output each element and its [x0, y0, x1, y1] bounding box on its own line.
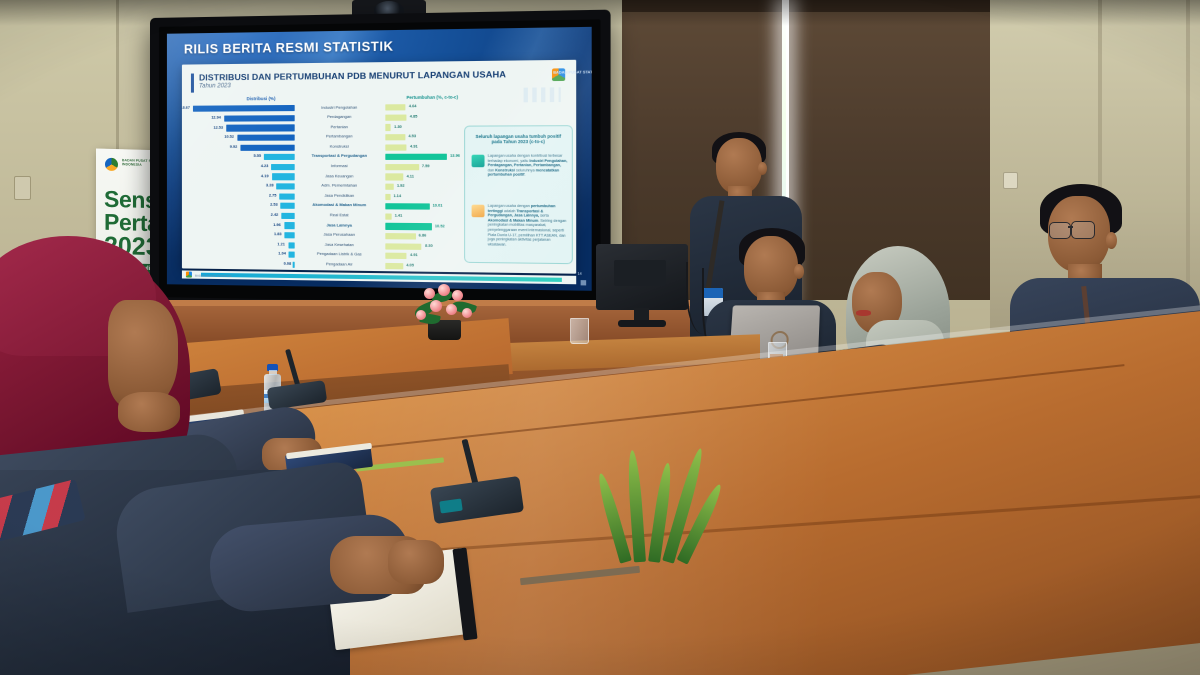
- distribusi-bar: [288, 242, 295, 248]
- slide-header-title: RILIS BERITA RESMI STATISTIK: [184, 39, 394, 56]
- pertumbuhan-cell: 1.30: [385, 123, 470, 133]
- distribusi-column-header: Distribusi (%): [247, 96, 276, 101]
- chart-category-label: Jasa Pendidikan: [296, 193, 384, 198]
- chart-category-label: Perdagangan: [296, 115, 384, 120]
- pertumbuhan-cell: 4.85: [385, 113, 470, 123]
- pertumbuhan-bar: [385, 104, 405, 111]
- distribusi-cell: 5.55: [190, 153, 295, 163]
- distribusi-bar: [281, 203, 295, 209]
- distribusi-value: 1.04: [278, 252, 286, 256]
- glasses-lens-left-icon: [1049, 222, 1071, 239]
- distribusi-value: 2.53: [270, 203, 278, 207]
- pertumbuhan-cell: 7.59: [385, 163, 470, 173]
- pertumbuhan-value: 6.86: [419, 233, 427, 237]
- distribusi-bar: [271, 164, 294, 170]
- pertumbuhan-bar: [385, 114, 406, 120]
- chart-category-label: Real Estat: [296, 213, 384, 218]
- conference-room-photo: BADAN PUSAT STATISTIK REPUBLIK INDONESIA…: [0, 0, 1200, 675]
- rose: [452, 290, 463, 301]
- distribusi-bar: [272, 174, 295, 180]
- pertumbuhan-value: 4.11: [407, 174, 414, 178]
- pertumbuhan-cell: 10.01: [385, 202, 470, 212]
- chart-title: DISTRIBUSI DAN PERTUMBUHAN PDB MENURUT L…: [199, 69, 506, 83]
- distribusi-cell: 12.94: [190, 114, 295, 124]
- growth-icon: [472, 205, 485, 218]
- pertumbuhan-value: 1.14: [393, 194, 401, 198]
- distribusi-value: 1.83: [274, 232, 282, 236]
- bps-logo-icon-slide: BADAN PUSAT STATISTIK: [552, 68, 565, 81]
- distribusi-bar: [264, 154, 295, 160]
- pertumbuhan-bar: [385, 263, 403, 270]
- slide-watermark: [524, 87, 561, 102]
- chart-category-label: Jasa Perusahaan: [296, 232, 384, 237]
- pertumbuhan-cell: 1.41: [385, 212, 470, 223]
- drinking-glass-2[interactable]: [570, 318, 589, 344]
- distribusi-value: 5.55: [254, 154, 262, 158]
- pertumbuhan-value: 4.64: [409, 105, 417, 109]
- insight-callout-box: Seluruh lapangan usaha tumbuh positif pa…: [464, 125, 573, 264]
- monitor-vesa-bump: [614, 260, 666, 286]
- pertumbuhan-column-header: Pertumbuhan (%, c-to-c): [406, 94, 458, 100]
- rose: [416, 310, 426, 320]
- callout-heading: Seluruh lapangan usaha tumbuh positif pa…: [473, 134, 564, 146]
- distribusi-cell: 4.19: [190, 172, 295, 182]
- distribusi-cell: 2.75: [190, 191, 295, 201]
- distribusi-value: 3.28: [266, 183, 274, 187]
- woman-maroon-cheek: [118, 392, 180, 432]
- slide-page-number: 14: [578, 272, 582, 276]
- pertumbuhan-value: 4.53: [408, 134, 416, 138]
- distribusi-bar: [293, 262, 295, 268]
- pertumbuhan-value: 4.91: [410, 253, 418, 257]
- distribusi-bar: [289, 252, 295, 258]
- person-writing-hand-fingers: [388, 540, 444, 584]
- pertumbuhan-cell: 4.11: [385, 172, 470, 182]
- pertumbuhan-cell: 1.14: [385, 192, 470, 202]
- distribusi-value: 2.42: [271, 213, 279, 217]
- man-glasses-ear: [1106, 232, 1117, 249]
- pertumbuhan-value: 8.30: [425, 243, 433, 247]
- pertumbuhan-bar: [385, 184, 393, 190]
- distribusi-value: 12.94: [211, 116, 221, 120]
- chart-category-label: Adm. Pemerintahan: [296, 184, 384, 189]
- man-laptop-ear: [794, 264, 804, 279]
- woman-grey-lips: [856, 310, 871, 316]
- light-switch[interactable]: [14, 176, 31, 200]
- monitor-base: [618, 320, 666, 327]
- distribusi-bar: [280, 193, 295, 199]
- chart-category-label: Jasa Kesehatan: [296, 242, 384, 247]
- chart-category-label: Industri Pengolahan: [296, 105, 384, 110]
- pertumbuhan-bar: [385, 213, 391, 219]
- footer-text: BADAN PUSAT STATISTIK: [195, 273, 232, 278]
- glasses-bridge-icon: [1068, 226, 1073, 228]
- distribusi-bar: [240, 144, 294, 150]
- pertumbuhan-cell: 4.05: [385, 261, 470, 272]
- distribusi-bar: [285, 232, 295, 238]
- rose: [446, 304, 457, 315]
- wall-seam-right-2: [1186, 0, 1190, 330]
- pertumbuhan-value: 1.41: [395, 213, 403, 217]
- distribusi-value: 4.19: [261, 174, 269, 178]
- chart-category-label: Jasa Lainnya: [296, 223, 384, 228]
- distribusi-value: 0.08: [284, 262, 292, 266]
- pertumbuhan-cell: 13.96: [385, 153, 470, 163]
- pertumbuhan-value: 10.52: [435, 224, 445, 228]
- chart-category-label: Pertanian: [296, 125, 384, 130]
- pertumbuhan-bar: [385, 174, 403, 180]
- chart-category-label: Informasi: [296, 164, 384, 169]
- distribusi-cell: 0.08: [190, 259, 295, 270]
- distribusi-value: 9.92: [230, 145, 237, 149]
- chart-category-label: Konstruksi: [296, 144, 384, 149]
- callout-item-2-text: Lapangan usaha dengan pertumbuhan tertin…: [488, 204, 568, 248]
- distribusi-bar: [237, 135, 295, 141]
- snake-plant: [598, 432, 708, 562]
- chart-subtitle: Tahun 2023: [199, 83, 231, 90]
- slide-nav-marker[interactable]: [581, 280, 587, 285]
- pertumbuhan-bar: [385, 243, 421, 250]
- pertumbuhan-value: 4.05: [406, 263, 414, 267]
- pertumbuhan-value: 10.01: [433, 204, 443, 208]
- desktop-monitor[interactable]: [596, 244, 688, 324]
- footer-logo-icon: [186, 271, 192, 277]
- pertumbuhan-value: 1.30: [394, 124, 402, 128]
- pertumbuhan-bar: [385, 223, 431, 230]
- pertumbuhan-bar: [385, 154, 447, 160]
- pertumbuhan-value: 4.85: [410, 114, 418, 118]
- pertumbuhan-bar: [385, 194, 390, 200]
- distribusi-value: 1.21: [277, 242, 285, 246]
- title-accent-bar: [191, 74, 194, 93]
- pertumbuhan-bar: [385, 144, 407, 150]
- callout-item-1-text: Lapangan usaha dengan kontribusi terbesa…: [488, 154, 568, 178]
- chart-category-label: Pertambangan: [296, 134, 384, 139]
- plant-leaf: [626, 450, 646, 563]
- distribusi-cell: 3.28: [190, 182, 295, 192]
- pertumbuhan-bar: [385, 164, 418, 170]
- presentation-slide: RILIS BERITA RESMI STATISTIK DISTRIBUSI …: [167, 27, 592, 291]
- wall-outlet[interactable]: [1003, 172, 1018, 189]
- pertumbuhan-bar: [385, 253, 407, 260]
- chart-category-label: Akomodasi & Makan Minum: [296, 203, 384, 208]
- rose: [462, 308, 472, 318]
- chart-category-label: Pengadaan Listrik & Gas: [296, 252, 384, 258]
- chart-category-label: Transportasi & Pergudangan: [296, 154, 384, 159]
- distribusi-bar: [224, 115, 295, 122]
- plant-leaf: [595, 472, 632, 564]
- pertumbuhan-bar: [385, 124, 391, 130]
- distribusi-bar: [277, 183, 295, 189]
- distribusi-value: 12.53: [213, 125, 223, 129]
- rose: [430, 300, 442, 312]
- distribusi-bar: [281, 213, 294, 219]
- bps-logo-icon: [105, 158, 118, 171]
- distribusi-cell: 12.53: [190, 123, 295, 133]
- distribusi-value: 10.52: [224, 135, 234, 139]
- flower-vase: [408, 282, 482, 340]
- pertumbuhan-cell: 4.53: [385, 133, 470, 143]
- pertumbuhan-value: 13.96: [450, 154, 460, 158]
- distribusi-cell: 10.52: [190, 133, 295, 143]
- distribusi-value: 1.96: [273, 222, 281, 226]
- pertumbuhan-value: 1.92: [397, 184, 405, 188]
- rose: [424, 288, 435, 299]
- distribusi-bar: [226, 125, 295, 132]
- chart-category-label: Pengadaan Air: [296, 262, 384, 268]
- slide-content-card: DISTRIBUSI DAN PERTUMBUHAN PDB MENURUT L…: [182, 60, 576, 274]
- factory-icon: [472, 155, 485, 168]
- distribusi-cell: 18.67: [190, 104, 295, 114]
- distribusi-value: 18.67: [180, 106, 190, 110]
- pertumbuhan-value: 7.59: [422, 164, 430, 168]
- glasses-lens-right-icon: [1071, 221, 1095, 239]
- chart-category-label: Jasa Keuangan: [296, 174, 384, 179]
- pertumbuhan-cell: 4.64: [385, 103, 470, 113]
- distribusi-cell: 4.23: [190, 163, 295, 173]
- man-laptop-head: [744, 236, 798, 300]
- distribusi-value: 4.23: [261, 164, 269, 168]
- pertumbuhan-bar: [385, 203, 429, 210]
- distribusi-cell: 9.92: [190, 143, 295, 153]
- pertumbuhan-bar: [385, 134, 405, 140]
- bps-logo-label: BADAN PUSAT STATISTIK: [553, 70, 592, 75]
- rose: [438, 284, 450, 296]
- pertumbuhan-cell: 4.91: [385, 143, 470, 153]
- interactive-display[interactable]: RILIS BERITA RESMI STATISTIK DISTRIBUSI …: [150, 10, 611, 315]
- pertumbuhan-cell: 1.92: [385, 182, 470, 192]
- distribusi-bar: [193, 105, 295, 112]
- distribusi-value: 2.75: [269, 193, 277, 197]
- display-screen[interactable]: RILIS BERITA RESMI STATISTIK DISTRIBUSI …: [167, 27, 592, 291]
- pertumbuhan-bar: [385, 233, 415, 240]
- pertumbuhan-value: 4.91: [410, 144, 418, 148]
- distribusi-bar: [284, 222, 295, 228]
- man-standing-ear: [758, 162, 767, 175]
